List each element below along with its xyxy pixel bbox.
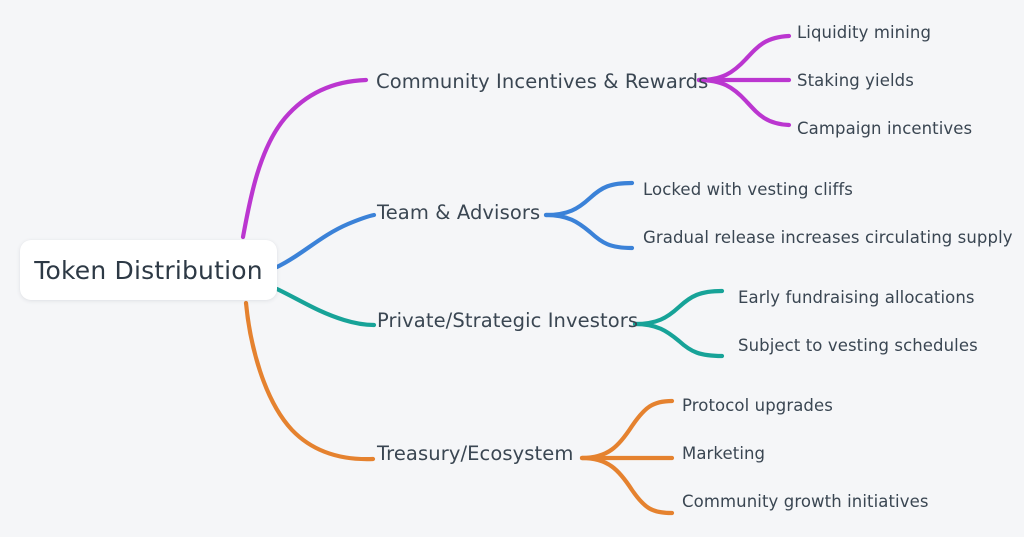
edge-treasury-community bbox=[582, 458, 672, 513]
leaf-node-community-incentives-rewards-2[interactable]: Campaign incentives bbox=[797, 121, 972, 138]
edge-team-locked bbox=[546, 183, 632, 215]
branch-node-community-incentives-rewards[interactable]: Community Incentives & Rewards bbox=[376, 72, 708, 92]
root-node-token-distribution[interactable]: Token Distribution bbox=[20, 240, 277, 300]
branch-node-private-strategic-investors[interactable]: Private/Strategic Investors bbox=[377, 311, 638, 331]
leaf-node-private-strategic-investors-1[interactable]: Subject to vesting schedules bbox=[738, 338, 978, 355]
branch-node-treasury-ecosystem[interactable]: Treasury/Ecosystem bbox=[377, 444, 574, 464]
edge-root-treasury bbox=[246, 303, 373, 459]
edge-root-community bbox=[243, 80, 366, 237]
leaf-node-community-incentives-rewards-1[interactable]: Staking yields bbox=[797, 73, 914, 90]
edge-team-gradual bbox=[546, 215, 632, 248]
leaf-node-community-incentives-rewards-0[interactable]: Liquidity mining bbox=[797, 25, 931, 42]
leaf-node-team-advisors-0[interactable]: Locked with vesting cliffs bbox=[643, 182, 853, 199]
leaf-node-private-strategic-investors-0[interactable]: Early fundraising allocations bbox=[738, 290, 975, 307]
edge-root-team bbox=[277, 215, 374, 267]
edge-community-liquidity bbox=[699, 36, 789, 80]
leaf-node-treasury-ecosystem-1[interactable]: Marketing bbox=[682, 446, 765, 463]
mindmap-canvas: Token Distribution Community Incentives … bbox=[0, 0, 1024, 537]
leaf-edge-group bbox=[546, 36, 789, 513]
edge-root-private bbox=[277, 289, 374, 325]
leaf-node-treasury-ecosystem-2[interactable]: Community growth initiatives bbox=[682, 494, 929, 511]
edge-private-subject bbox=[635, 324, 722, 356]
branch-node-team-advisors[interactable]: Team & Advisors bbox=[377, 203, 540, 223]
leaf-node-treasury-ecosystem-0[interactable]: Protocol upgrades bbox=[682, 398, 833, 415]
leaf-node-team-advisors-1[interactable]: Gradual release increases circulating su… bbox=[643, 230, 1013, 247]
edge-community-campaign bbox=[699, 80, 789, 125]
edge-private-early bbox=[635, 291, 722, 324]
edge-treasury-protocol bbox=[582, 401, 672, 458]
